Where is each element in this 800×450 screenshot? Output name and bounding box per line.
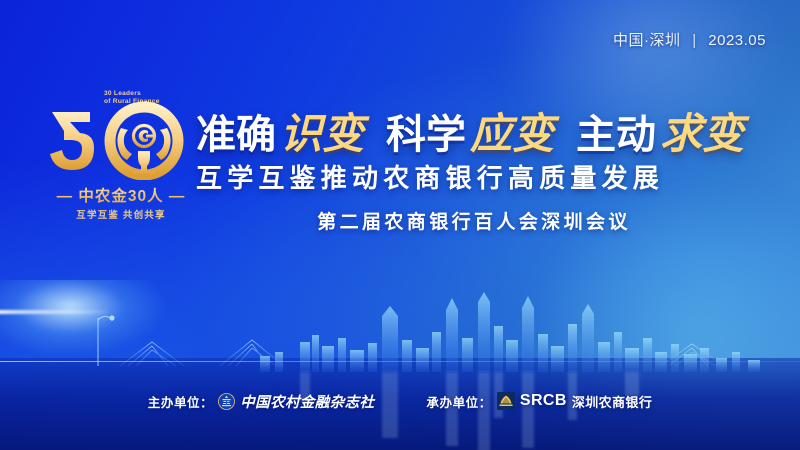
horizon-light-flare <box>0 280 200 372</box>
organizer-name: 深圳农商银行 <box>572 392 652 411</box>
headline-block: 准确 识变 科学 应变 主动 求变 互学互鉴推动农商银行高质量发展 第二届农商银… <box>196 100 752 234</box>
headline-part-block-1: 准确 <box>196 102 276 160</box>
headline-part-block-2: 科学 <box>386 102 466 160</box>
event-logo: 30 Leaders of Rural Finance <box>40 88 202 236</box>
china-rural-finance-emblem <box>218 393 235 410</box>
headline-line-2: 互学互鉴推动农商银行高质量发展 <box>196 158 752 195</box>
city-scenery <box>0 280 800 450</box>
headline-part-script-1: 识变 <box>280 100 364 161</box>
organizer-brand: SRCB <box>520 392 567 410</box>
headline-part-script-2: 应变 <box>470 100 554 161</box>
headline-part-block-3: 主动 <box>576 102 656 160</box>
headline-part-script-3: 求变 <box>660 100 744 161</box>
headline-line-1: 准确 识变 科学 应变 主动 求变 <box>196 100 752 152</box>
logo-chinese-name: — 中农金30人 — <box>40 184 202 206</box>
logo-english-line1: 30 Leaders <box>104 90 200 98</box>
srcb-logo-mark <box>497 392 515 410</box>
logo-30-mark <box>46 100 198 180</box>
host-label: 主办单位： <box>148 392 214 411</box>
sponsor-footer: 主办单位： 中国农村金融杂志社 承办单位： SRCB 深圳农商银行 <box>0 388 800 414</box>
poster-canvas: 中国·深圳 | 2023.05 30 Leaders of Rural Fina… <box>0 0 800 450</box>
organizer-label: 承办单位： <box>426 392 492 411</box>
location-text: 中国·深圳 <box>613 32 681 49</box>
logo-tagline: 互学互鉴 共创共享 <box>40 207 202 221</box>
headline-line-3: 第二届农商银行百人会深圳会议 <box>317 207 631 234</box>
host-organization: 主办单位： 中国农村金融杂志社 <box>148 391 375 412</box>
separator: | <box>692 32 696 49</box>
organizer-organization: 承办单位： SRCB 深圳农商银行 <box>426 392 652 411</box>
flare-core <box>0 310 114 314</box>
date-location-line: 中国·深圳 | 2023.05 <box>613 29 766 50</box>
host-name: 中国农村金融杂志社 <box>240 391 374 412</box>
date-text: 2023.05 <box>708 32 766 49</box>
